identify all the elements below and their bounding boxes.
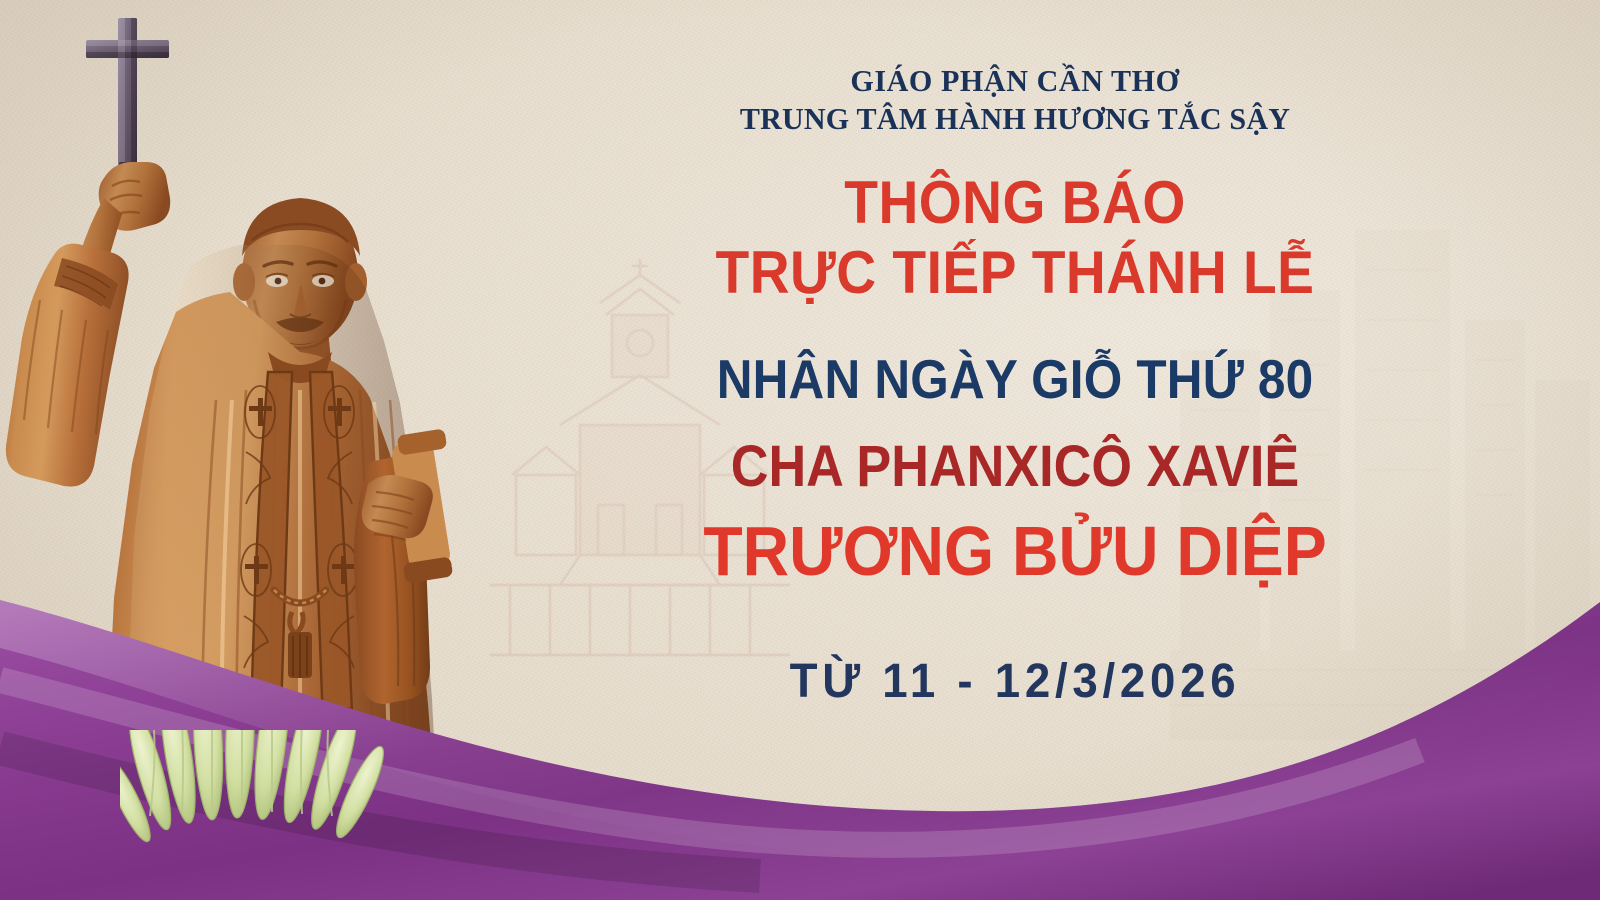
event-dates: TỪ 11 - 12/3/2026: [640, 654, 1391, 709]
header-line-2: TRUNG TÂM HÀNH HƯƠNG TẮC SẬY: [632, 100, 1398, 138]
announcement-line-2: TRỰC TIẾP THÁNH LỄ: [644, 242, 1386, 304]
header-line-1: GIÁO PHẬN CẦN THƠ: [632, 62, 1398, 100]
tuberose-flowers: [120, 730, 420, 900]
occasion-line: NHÂN NGÀY GIỖ THỨ 80: [647, 352, 1383, 407]
announcement-line-1: THÔNG BÁO: [844, 169, 1185, 236]
poster-canvas: GIÁO PHẬN CẦN THƠ TRUNG TÂM HÀNH HƯƠNG T…: [0, 0, 1600, 900]
announcement-title: THÔNG BÁO TRỰC TIẾP THÁNH LỄ: [644, 172, 1386, 305]
honoree-name-line-1: CHA PHANXICÔ XAVIÊ: [645, 438, 1385, 496]
diocese-header: GIÁO PHẬN CẦN THƠ TRUNG TÂM HÀNH HƯƠNG T…: [632, 62, 1398, 139]
honoree-name-line-2: TRƯƠNG BỬU DIỆP: [633, 516, 1397, 586]
poster-text-block: GIÁO PHẬN CẦN THƠ TRUNG TÂM HÀNH HƯƠNG T…: [620, 0, 1410, 900]
